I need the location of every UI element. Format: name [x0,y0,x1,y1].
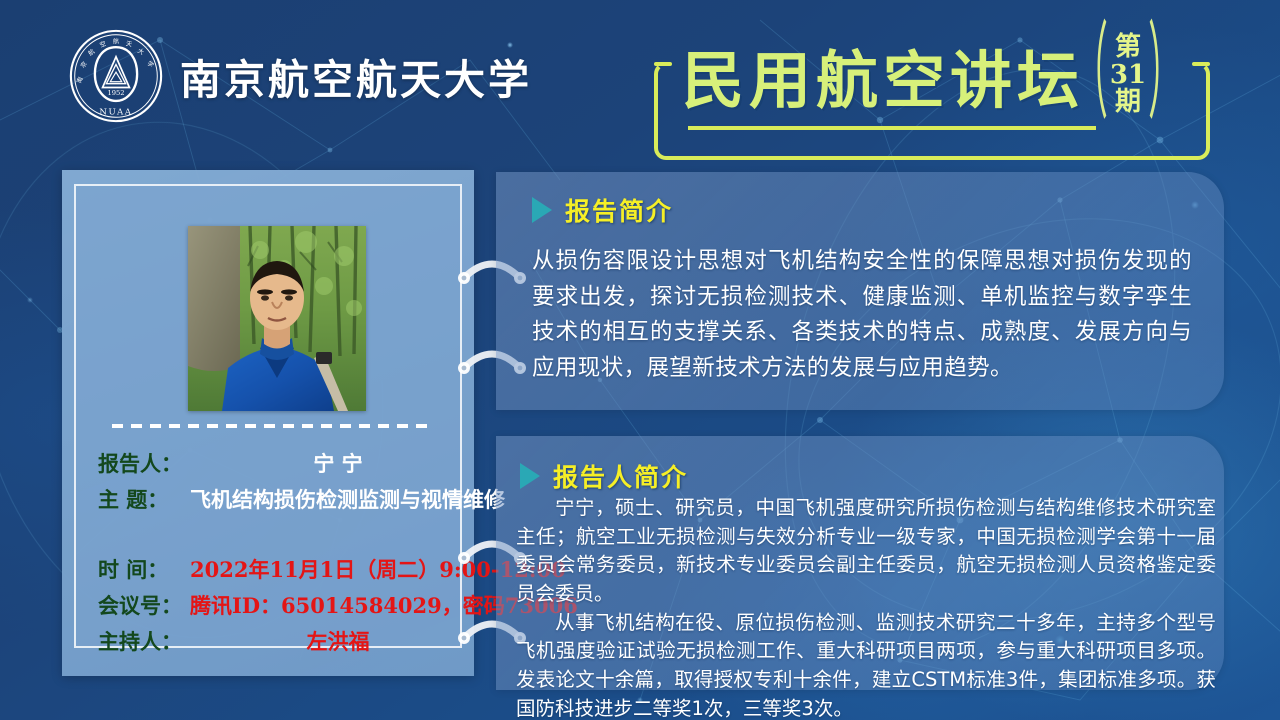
report-summary-panel: 报告简介 从损伤容限设计思想对飞机结构安全性的保障思想对损伤发现的要求出发，探讨… [496,172,1224,410]
poster-root: 1952 NUAA 南 京 航 空 航 天 大 学 南京航空航天大学 民用航空讲… [0,0,1280,720]
svg-text:航: 航 [113,37,120,45]
topic-row: 主 题： 飞机结构损伤检测监测与视情维修 [98,484,458,514]
report-summary-title: 报告简介 [565,192,673,228]
svg-text:空: 空 [99,39,107,49]
issue-prefix: 第 [1115,34,1141,62]
speaker-value: 宁 宁 [194,448,458,478]
svg-text:NUAA: NUAA [99,107,132,117]
svg-text:天: 天 [125,40,132,48]
meeting-row: 会议号： 腾讯ID：65014584029，密码73006 [98,590,458,620]
issue-open-paren: （ [1074,23,1108,128]
speaker-bio-title: 报告人简介 [553,458,688,494]
host-value: 左洪福 [194,626,458,656]
svg-text:航: 航 [87,47,97,57]
report-summary-heading: 报告简介 [532,192,673,228]
svg-text:1952: 1952 [107,89,124,97]
speaker-photo [188,226,366,411]
university-name: 南京航空航天大学 [180,46,532,106]
photo-divider [112,424,430,428]
row-spacer [98,520,458,554]
speaker-bio-text: 宁宁，硕士、研究员，中国飞机强度研究所损伤检测与结构维修技术研究室主任；航空工业… [516,494,1216,720]
speaker-info-card-inner: 报告人： 宁 宁 主 题： 飞机结构损伤检测监测与视情维修 时 间： 2022年… [74,184,462,648]
issue-suffix: 期 [1115,89,1141,117]
speaker-bio-heading: 报告人简介 [520,458,688,494]
svg-text:南: 南 [75,76,85,85]
svg-text:大: 大 [136,47,145,57]
issue-stack: 第 31 期 [1110,34,1146,117]
host-row: 主持人： 左洪福 [98,626,458,656]
time-row: 时 间： 2022年11月1日（周二）9:00-12:00 [98,554,458,584]
speaker-bio-panel: 报告人简介 宁宁，硕士、研究员，中国飞机强度研究所损伤检测与结构维修技术研究室主… [496,436,1224,690]
speaker-bio-paragraph-2: 从事飞机结构在役、原位损伤检测、监测技术研究二十多年，主持多个型号飞机强度验证试… [516,609,1216,720]
topic-label: 主 题： [98,484,190,514]
brand-lockup: 1952 NUAA 南 京 航 空 航 天 大 学 南京航空航天大学 [68,28,532,124]
report-summary-text: 从损伤容限设计思想对飞机结构安全性的保障思想对损伤发现的要求出发，探讨无损检测技… [532,244,1192,386]
svg-text:京: 京 [79,60,89,70]
title-underline-decoration [688,126,1096,130]
speaker-portrait-image [188,226,366,411]
speaker-detail-list: 报告人： 宁 宁 主 题： 飞机结构损伤检测监测与视情维修 时 间： 2022年… [98,448,458,662]
issue-number: 31 [1110,62,1146,90]
host-label: 主持人： [98,626,194,656]
time-label: 时 间： [98,554,190,584]
forum-title-block: 民用航空讲坛 （ 第 31 期 ） [640,14,1220,164]
speaker-bio-paragraph-1: 宁宁，硕士、研究员，中国飞机强度研究所损伤检测与结构维修技术研究室主任；航空工业… [516,494,1216,609]
meeting-label: 会议号： [98,590,190,620]
poster-header: 1952 NUAA 南 京 航 空 航 天 大 学 南京航空航天大学 民用航空讲… [0,0,1280,168]
svg-text:学: 学 [145,59,155,69]
issue-close-paren: ） [1148,23,1182,128]
speaker-label: 报告人： [98,448,194,478]
triangle-marker-icon [532,197,552,223]
triangle-marker-icon [520,463,540,489]
nuaa-logo-icon: 1952 NUAA 南 京 航 空 航 天 大 学 [68,28,164,124]
speaker-row: 报告人： 宁 宁 [98,448,458,478]
forum-title: 民用航空讲坛 [682,50,1084,112]
issue-badge: （ 第 31 期 ） [1092,34,1164,117]
speaker-info-card: 报告人： 宁 宁 主 题： 飞机结构损伤检测监测与视情维修 时 间： 2022年… [62,170,474,676]
